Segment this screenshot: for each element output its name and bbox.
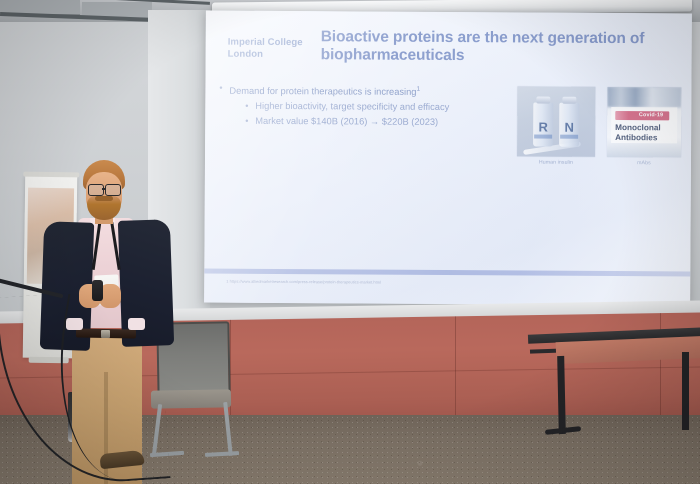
table-leg: [682, 352, 689, 430]
label-line-2: Antibodies: [615, 133, 661, 143]
bullet-item: • Higher bioactivity, target specificity…: [245, 99, 523, 116]
presentation-photo-scene: Imperial College London Bioactive protei…: [0, 0, 700, 484]
slide-bullet-list: • Demand for protein therapeutics is inc…: [213, 81, 523, 131]
bullet-superscript: 1: [416, 86, 420, 93]
presenter-mustache: [95, 196, 113, 201]
bullet-marker: •: [219, 81, 229, 96]
bottle-label-text: Monoclonal Antibodies: [615, 123, 661, 143]
logo-line-2: London: [228, 48, 303, 60]
mabs-caption: mAbs: [607, 160, 681, 166]
slide-accent-band: [204, 269, 690, 277]
glasses-left-lens: [88, 184, 104, 196]
bullet-marker: •: [245, 99, 255, 114]
vial-letter: R: [533, 120, 553, 135]
glasses-bridge: [102, 188, 106, 190]
bullet-marker: •: [245, 114, 255, 129]
slide-surface: Imperial College London Bioactive protei…: [204, 11, 692, 306]
vial-band: [560, 135, 578, 139]
monoclonal-antibodies-image: Covid-19 Monoclonal Antibodies: [607, 87, 681, 157]
logo-line-1: Imperial College: [228, 37, 303, 49]
bullet-text: Higher bioactivity, target specificity a…: [255, 99, 449, 115]
vial-letter: N: [559, 120, 579, 135]
bottle-cap-blur: [607, 87, 681, 107]
slide-title: Bioactive proteins are the next generati…: [321, 28, 681, 66]
projector-screen: Imperial College London Bioactive protei…: [204, 11, 692, 306]
covid-tag-label: Covid-19: [639, 112, 663, 118]
human-insulin-caption: Human insulin: [517, 159, 595, 165]
insulin-vial-right: N: [559, 103, 579, 147]
bullet-text: Market value $140B (2016) → $220B (2023): [255, 114, 438, 130]
insulin-vial-left: R: [533, 103, 553, 147]
human-insulin-image: R N: [517, 86, 595, 156]
label-line-1: Monoclonal: [615, 123, 661, 133]
covid-tag: Covid-19: [615, 111, 669, 120]
bullet-text: Demand for protein therapeutics is incre…: [229, 81, 420, 100]
imperial-college-logo: Imperial College London: [228, 37, 303, 60]
banner-top-rail: [23, 172, 79, 178]
vial-band: [534, 135, 552, 139]
bullet-item: • Demand for protein therapeutics is inc…: [219, 81, 523, 101]
glasses-right-lens: [105, 184, 121, 196]
slide-footnote-url: 1 https://www.alliedmarketresearch.com/p…: [226, 279, 381, 285]
bullet-item: • Market value $140B (2016) → $220B (202…: [245, 114, 523, 131]
